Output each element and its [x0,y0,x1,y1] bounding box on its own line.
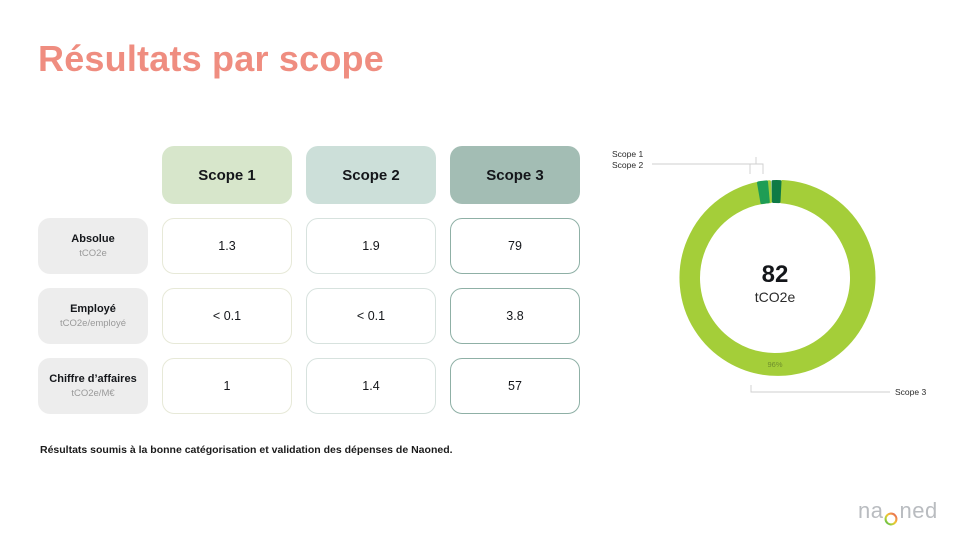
cell-chiffre-scope-3[interactable]: 57 [450,358,580,414]
cell-absolue-scope-1[interactable]: 1.3 [162,218,292,274]
donut-segment-scope-1 [759,182,769,203]
cell-employe-scope-1[interactable]: < 0.1 [162,288,292,344]
footnote-text: Résultats soumis à la bonne catégorisati… [40,444,453,456]
row-label-chiffre-d-affaires: Chiffre d’affaires tCO2e/M€ [38,358,148,414]
cell-employe-scope-2[interactable]: < 0.1 [306,288,436,344]
column-header-scope-2[interactable]: Scope 2 [306,146,436,204]
column-header-scope-3[interactable]: Scope 3 [450,146,580,204]
logo-text-suffix: ned [899,498,937,524]
row-label-title: Chiffre d’affaires [49,372,136,386]
table-corner-spacer [38,146,148,204]
naoned-logo: na ned [858,498,938,524]
donut-chart: Scope 1 Scope 2 Scope 3 96% 82 tCO2e [600,140,950,410]
row-label-absolue: Absolue tCO2e [38,218,148,274]
callout-label-scope-2: Scope 2 [612,160,643,170]
row-label-employe: Employé tCO2e/employé [38,288,148,344]
table-row: Employé tCO2e/employé < 0.1 < 0.1 3.8 [38,288,580,344]
row-label-title: Absolue [71,232,114,246]
donut-segment-scope-2 [773,182,780,202]
cell-employe-scope-3[interactable]: 3.8 [450,288,580,344]
row-label-unit: tCO2e/M€ [71,387,114,400]
row-label-title: Employé [70,302,116,316]
logo-ring-icon [884,506,898,520]
row-label-unit: tCO2e [79,247,106,260]
logo-text-prefix: na [858,498,883,524]
donut-center-value: 82 [762,261,789,288]
callout-label-scope-1: Scope 1 [612,149,643,159]
cell-absolue-scope-2[interactable]: 1.9 [306,218,436,274]
callout-label-scope-3: Scope 3 [895,387,926,397]
cell-chiffre-scope-1[interactable]: 1 [162,358,292,414]
cell-absolue-scope-3[interactable]: 79 [450,218,580,274]
cell-chiffre-scope-2[interactable]: 1.4 [306,358,436,414]
page-title: Résultats par scope [38,38,384,80]
donut-chart-svg: Scope 1 Scope 2 Scope 3 96% 82 tCO2e [600,140,950,410]
table-row: Absolue tCO2e 1.3 1.9 79 [38,218,580,274]
row-label-unit: tCO2e/employé [60,317,126,330]
table-header-row: Scope 1 Scope 2 Scope 3 [38,146,580,204]
column-header-scope-1[interactable]: Scope 1 [162,146,292,204]
donut-center-unit: tCO2e [755,289,796,305]
slide-canvas: Résultats par scope Scope 1 Scope 2 Scop… [0,0,960,540]
results-table: Scope 1 Scope 2 Scope 3 Absolue tCO2e 1.… [38,146,580,414]
donut-percent-label: 96% [767,360,782,369]
table-row: Chiffre d’affaires tCO2e/M€ 1 1.4 57 [38,358,580,414]
